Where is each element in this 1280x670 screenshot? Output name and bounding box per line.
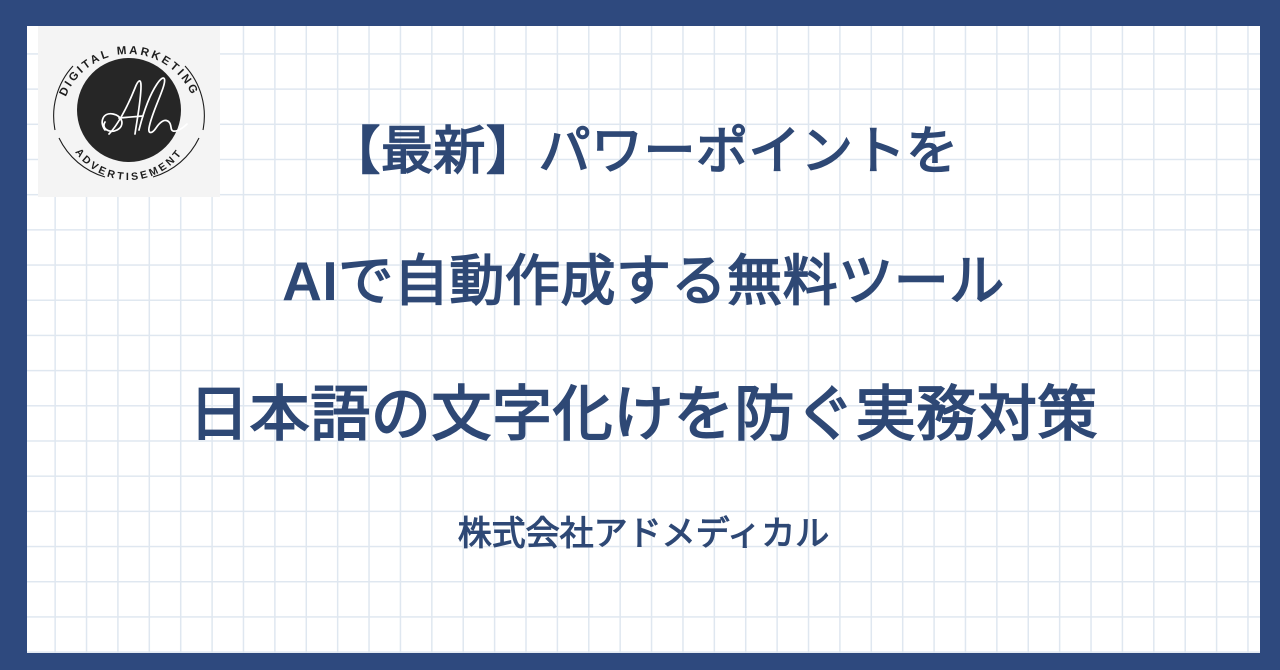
logo-disc: [77, 58, 181, 162]
logo-badge-icon: DIGITAL MARKETING ADVERTISEMENT: [43, 30, 215, 194]
slide-canvas: DIGITAL MARKETING ADVERTISEMENT 【最新】パワーポ…: [0, 0, 1280, 670]
company-logo: DIGITAL MARKETING ADVERTISEMENT: [38, 26, 220, 197]
